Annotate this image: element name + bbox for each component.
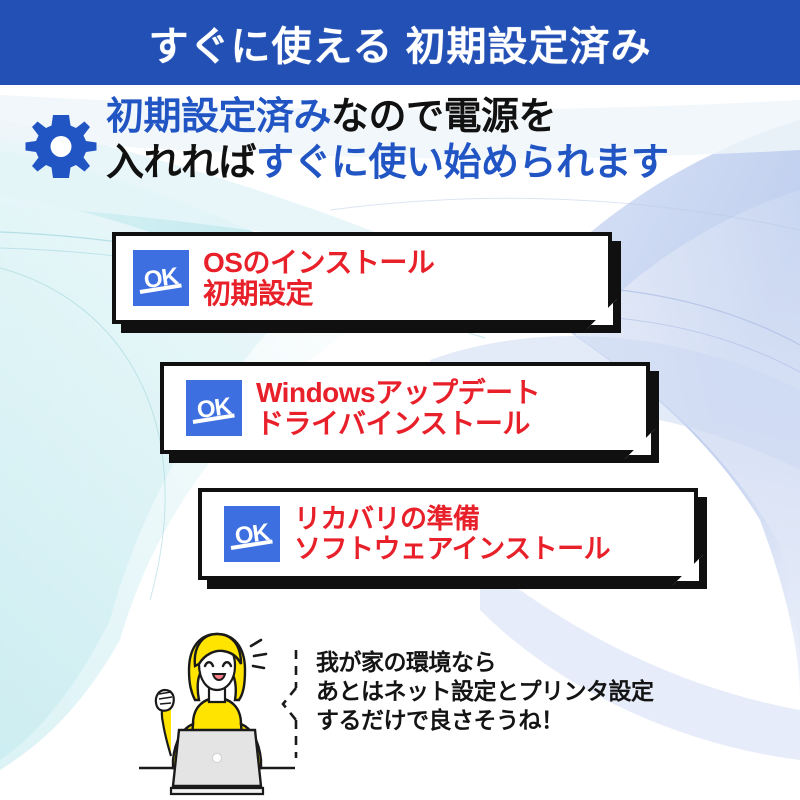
card-fold-inner	[587, 299, 613, 325]
feature-card-2-text: Windowsアップデート ドライバインストール	[256, 377, 546, 440]
card-fold-inner	[625, 429, 651, 455]
headline-line-1: 初期設定済みなので電源を	[106, 98, 669, 138]
speech-bubble: 我が家の環境なら あとはネット設定とプリンタ設定 するだけで良さそうね！	[278, 648, 654, 760]
headline-line2-black: 入れれば	[106, 142, 256, 184]
card-fold-corner	[587, 299, 617, 329]
headline-line1-black: なので電源を	[331, 96, 556, 138]
header-banner: すぐに使える 初期設定済み	[0, 0, 800, 85]
feature-card-1[interactable]: OK OSのインストール 初期設定	[112, 232, 612, 324]
feature-card-1-text: OSのインストール 初期設定	[203, 247, 440, 310]
headline-block: 初期設定済みなので電源を 入れればすぐに使い始められます	[24, 98, 784, 186]
feature-card-3[interactable]: OK リカバリの準備 ソフトウェアインストール	[198, 488, 698, 580]
banner-title: すぐに使える 初期設定済み	[149, 14, 652, 72]
poster-canvas: すぐに使える 初期設定済み 初期設定済みなので電源を 入れればすぐに使い始められ…	[0, 0, 800, 800]
feature-card-1-line-1: OSのインストール	[203, 247, 434, 278]
woman-with-laptop-illustration	[135, 628, 300, 800]
excitement-marks	[251, 640, 266, 668]
ok-badge-icon: OK	[224, 506, 280, 562]
speech-bubble-tail	[278, 648, 304, 760]
speech-line-1: 我が家の環境なら	[316, 648, 654, 677]
feature-card-2-line-1: Windowsアップデート	[256, 377, 540, 408]
card-fold-corner	[625, 429, 655, 459]
speech-line-3: するだけで良さそうね！	[316, 706, 654, 735]
feature-card-2[interactable]: OK Windowsアップデート ドライバインストール	[160, 362, 650, 454]
speech-bubble-text: 我が家の環境なら あとはネット設定とプリンタ設定 するだけで良さそうね！	[316, 648, 654, 760]
speech-line-2: あとはネット設定とプリンタ設定	[316, 677, 654, 706]
headline-line1-blue: 初期設定済み	[106, 96, 331, 138]
gear-icon	[24, 112, 98, 186]
ok-badge-icon: OK	[133, 250, 189, 306]
ok-badge-icon: OK	[186, 380, 242, 436]
headline-text: 初期設定済みなので電源を 入れればすぐに使い始められます	[106, 98, 669, 184]
feature-card-3-line-1: リカバリの準備	[294, 504, 688, 534]
headline-line-2: 入れればすぐに使い始められます	[106, 144, 669, 184]
feature-card-3-text: リカバリの準備 ソフトウェアインストール	[294, 504, 694, 564]
headline-line2-blue: すぐに使い始められます	[256, 142, 669, 184]
feature-card-2-line-2: ドライバインストール	[256, 408, 540, 439]
laptop-base	[171, 788, 263, 794]
feature-card-1-line-2: 初期設定	[203, 278, 434, 309]
feature-card-3-line-2: ソフトウェアインストール	[294, 534, 688, 564]
